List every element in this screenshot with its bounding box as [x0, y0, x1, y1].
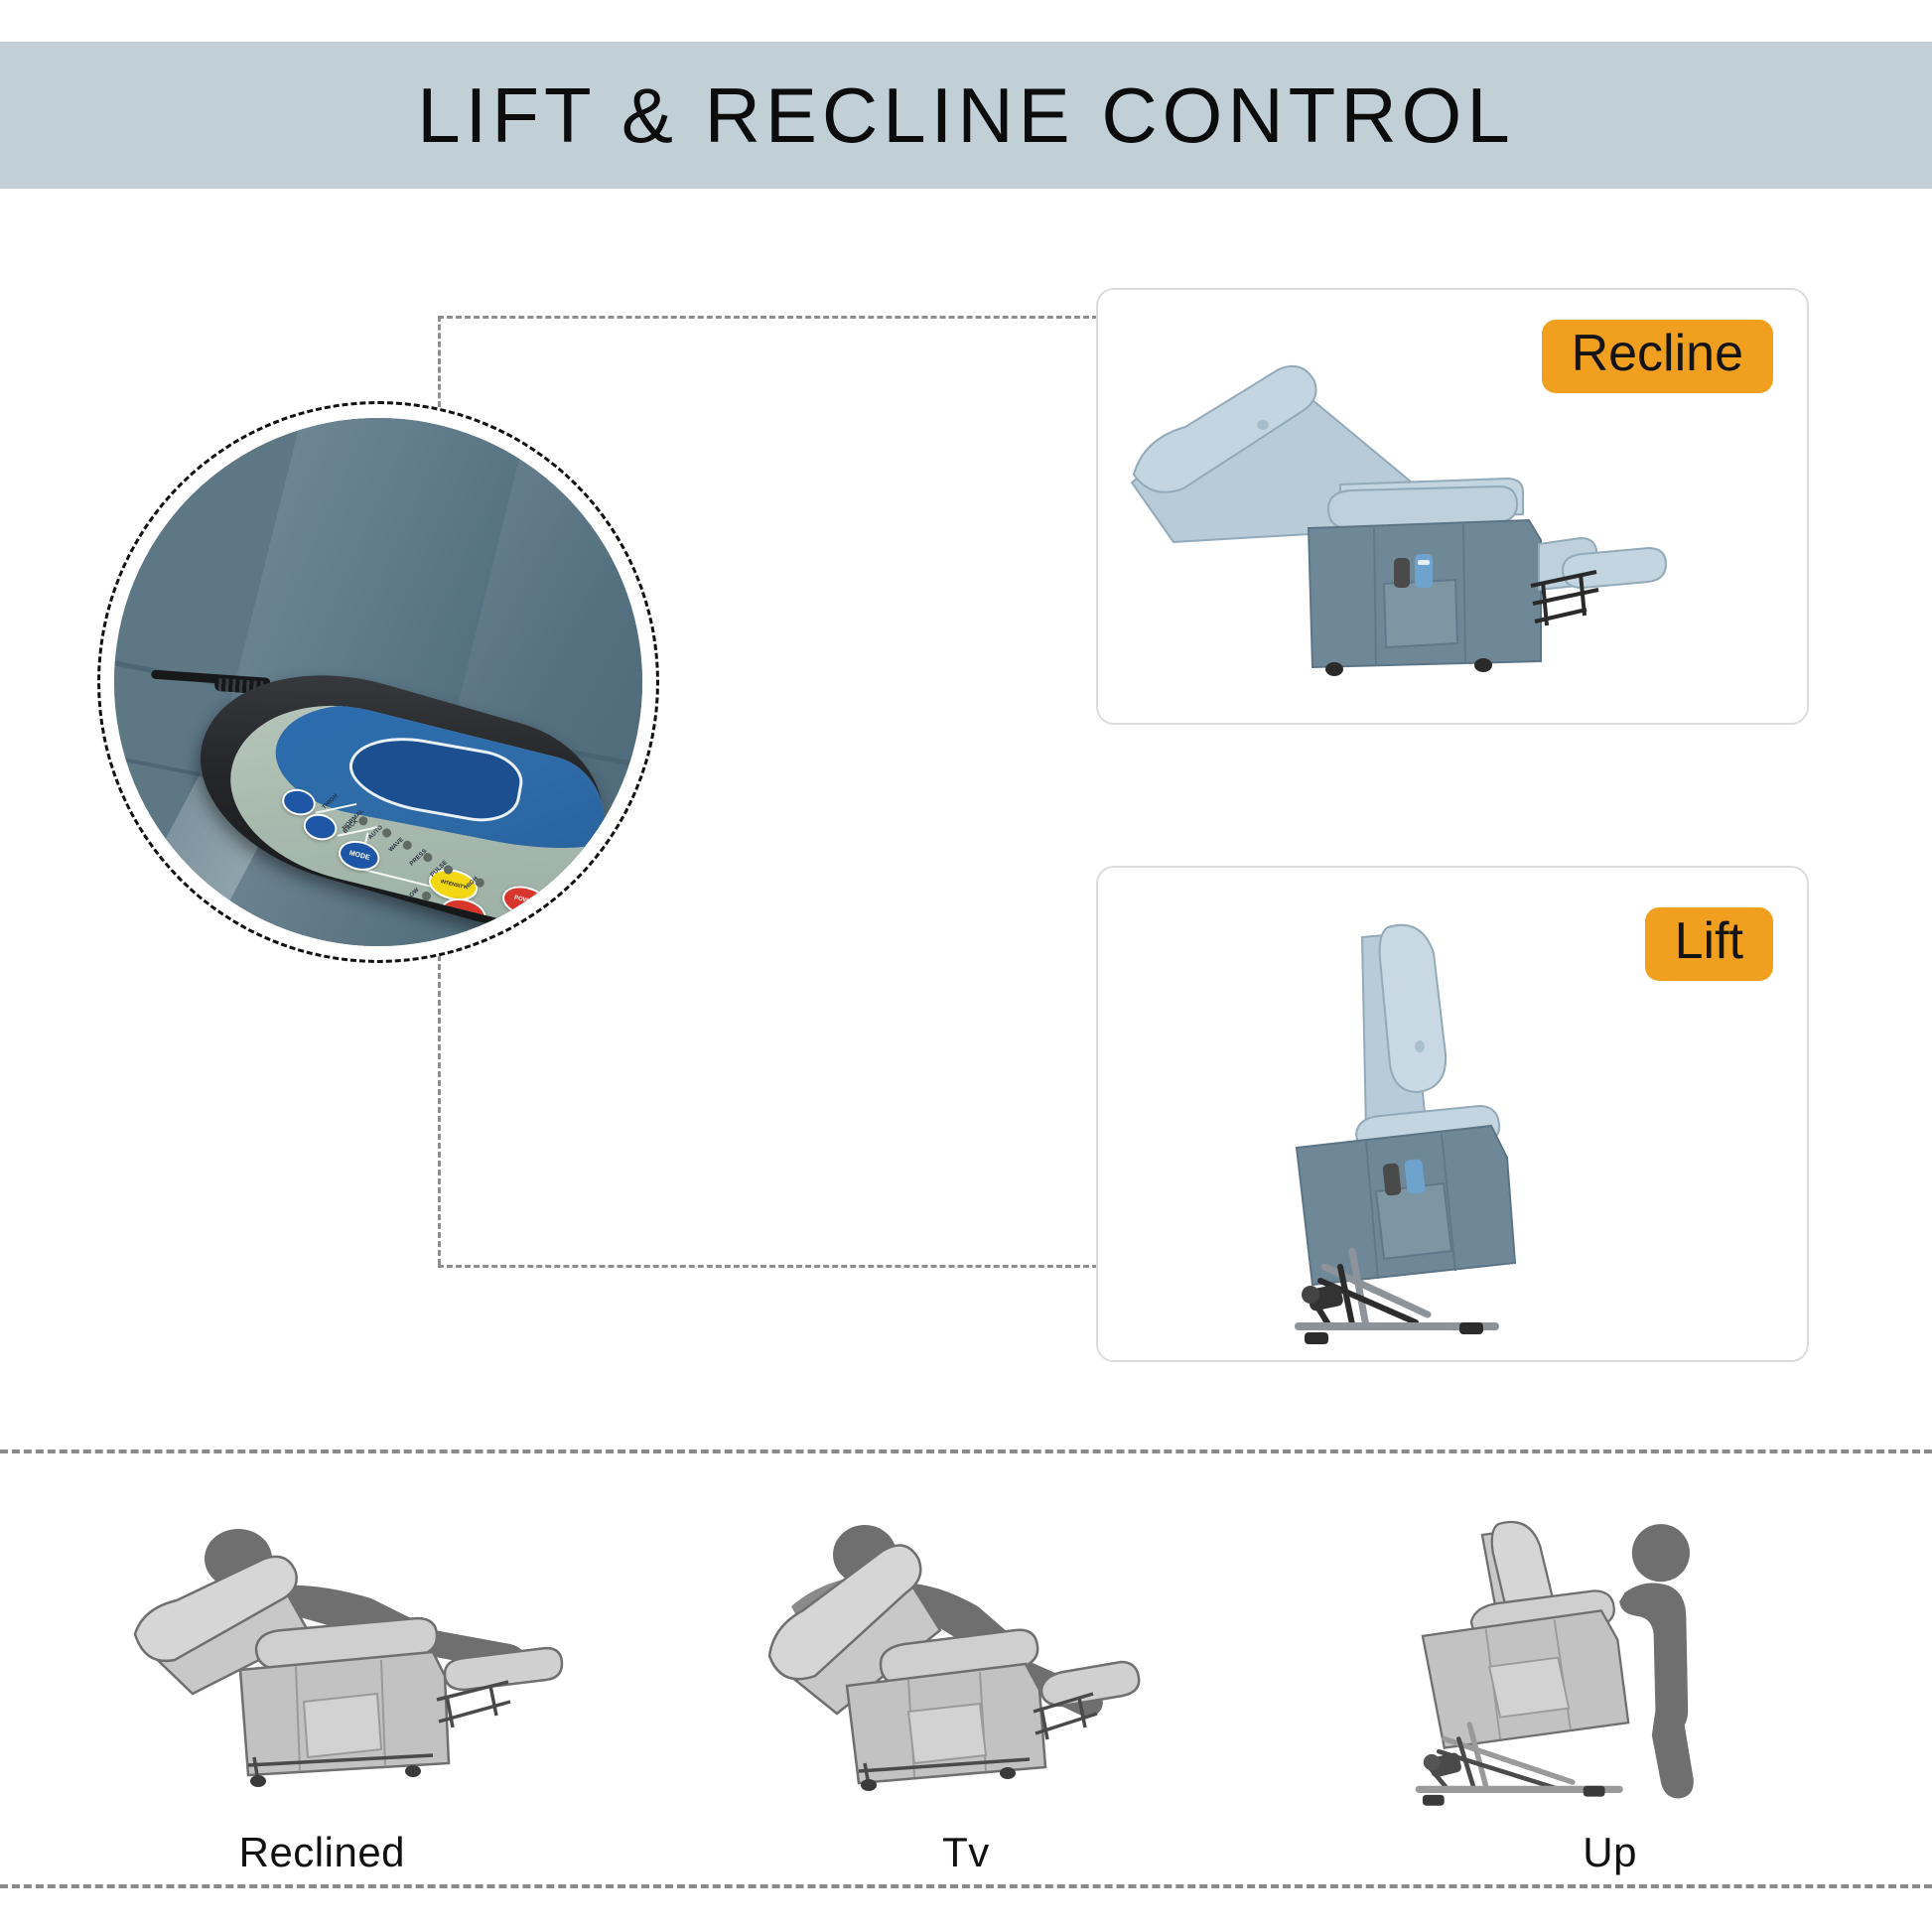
button-power[interactable]: POWER [499, 882, 550, 920]
state-figure-tv [688, 1515, 1244, 1813]
connector-up-vertical [438, 316, 441, 407]
badge-lift: Lift [1645, 907, 1773, 981]
badge-recline: Recline [1542, 320, 1773, 393]
button-back[interactable]: BACK [300, 810, 339, 843]
chair-silhouette-reclined [44, 1515, 600, 1813]
chair-silhouette-up [1332, 1515, 1888, 1813]
button-mode[interactable]: MODE [336, 837, 383, 875]
divider-bottom [0, 1884, 1932, 1888]
state-item-up: Up [1332, 1489, 1888, 1876]
panel-recline: Recline [1096, 288, 1809, 725]
lead-line-mode-horizontal [357, 868, 439, 890]
connector-down-horizontal [438, 1265, 1098, 1268]
infographic-page: LIFT & RECLINE CONTROL [0, 0, 1932, 1932]
state-item-reclined: Reclined [44, 1489, 600, 1876]
divider-top [0, 1449, 1932, 1453]
connector-up-horizontal [438, 316, 1098, 319]
page-title: LIFT & RECLINE CONTROL [417, 70, 1514, 161]
state-label-tv: Tv [942, 1829, 990, 1876]
state-figure-reclined [44, 1515, 600, 1813]
state-item-tv: Tv [688, 1489, 1244, 1876]
callout-circle: THIGH BACK MODE INTENSITY POWER [97, 401, 659, 963]
state-label-reclined: Reclined [239, 1829, 405, 1876]
chair-illustration-lifted [1217, 897, 1654, 1354]
header-band: LIFT & RECLINE CONTROL [0, 42, 1932, 189]
state-label-up: Up [1583, 1829, 1637, 1876]
remote-photo: THIGH BACK MODE INTENSITY POWER [114, 418, 642, 946]
connector-down-vertical [438, 955, 441, 1265]
chair-silhouette-tv [688, 1515, 1244, 1813]
state-figure-up [1332, 1515, 1888, 1813]
panel-lift: Lift [1096, 866, 1809, 1362]
states-row: Reclined [0, 1489, 1932, 1876]
